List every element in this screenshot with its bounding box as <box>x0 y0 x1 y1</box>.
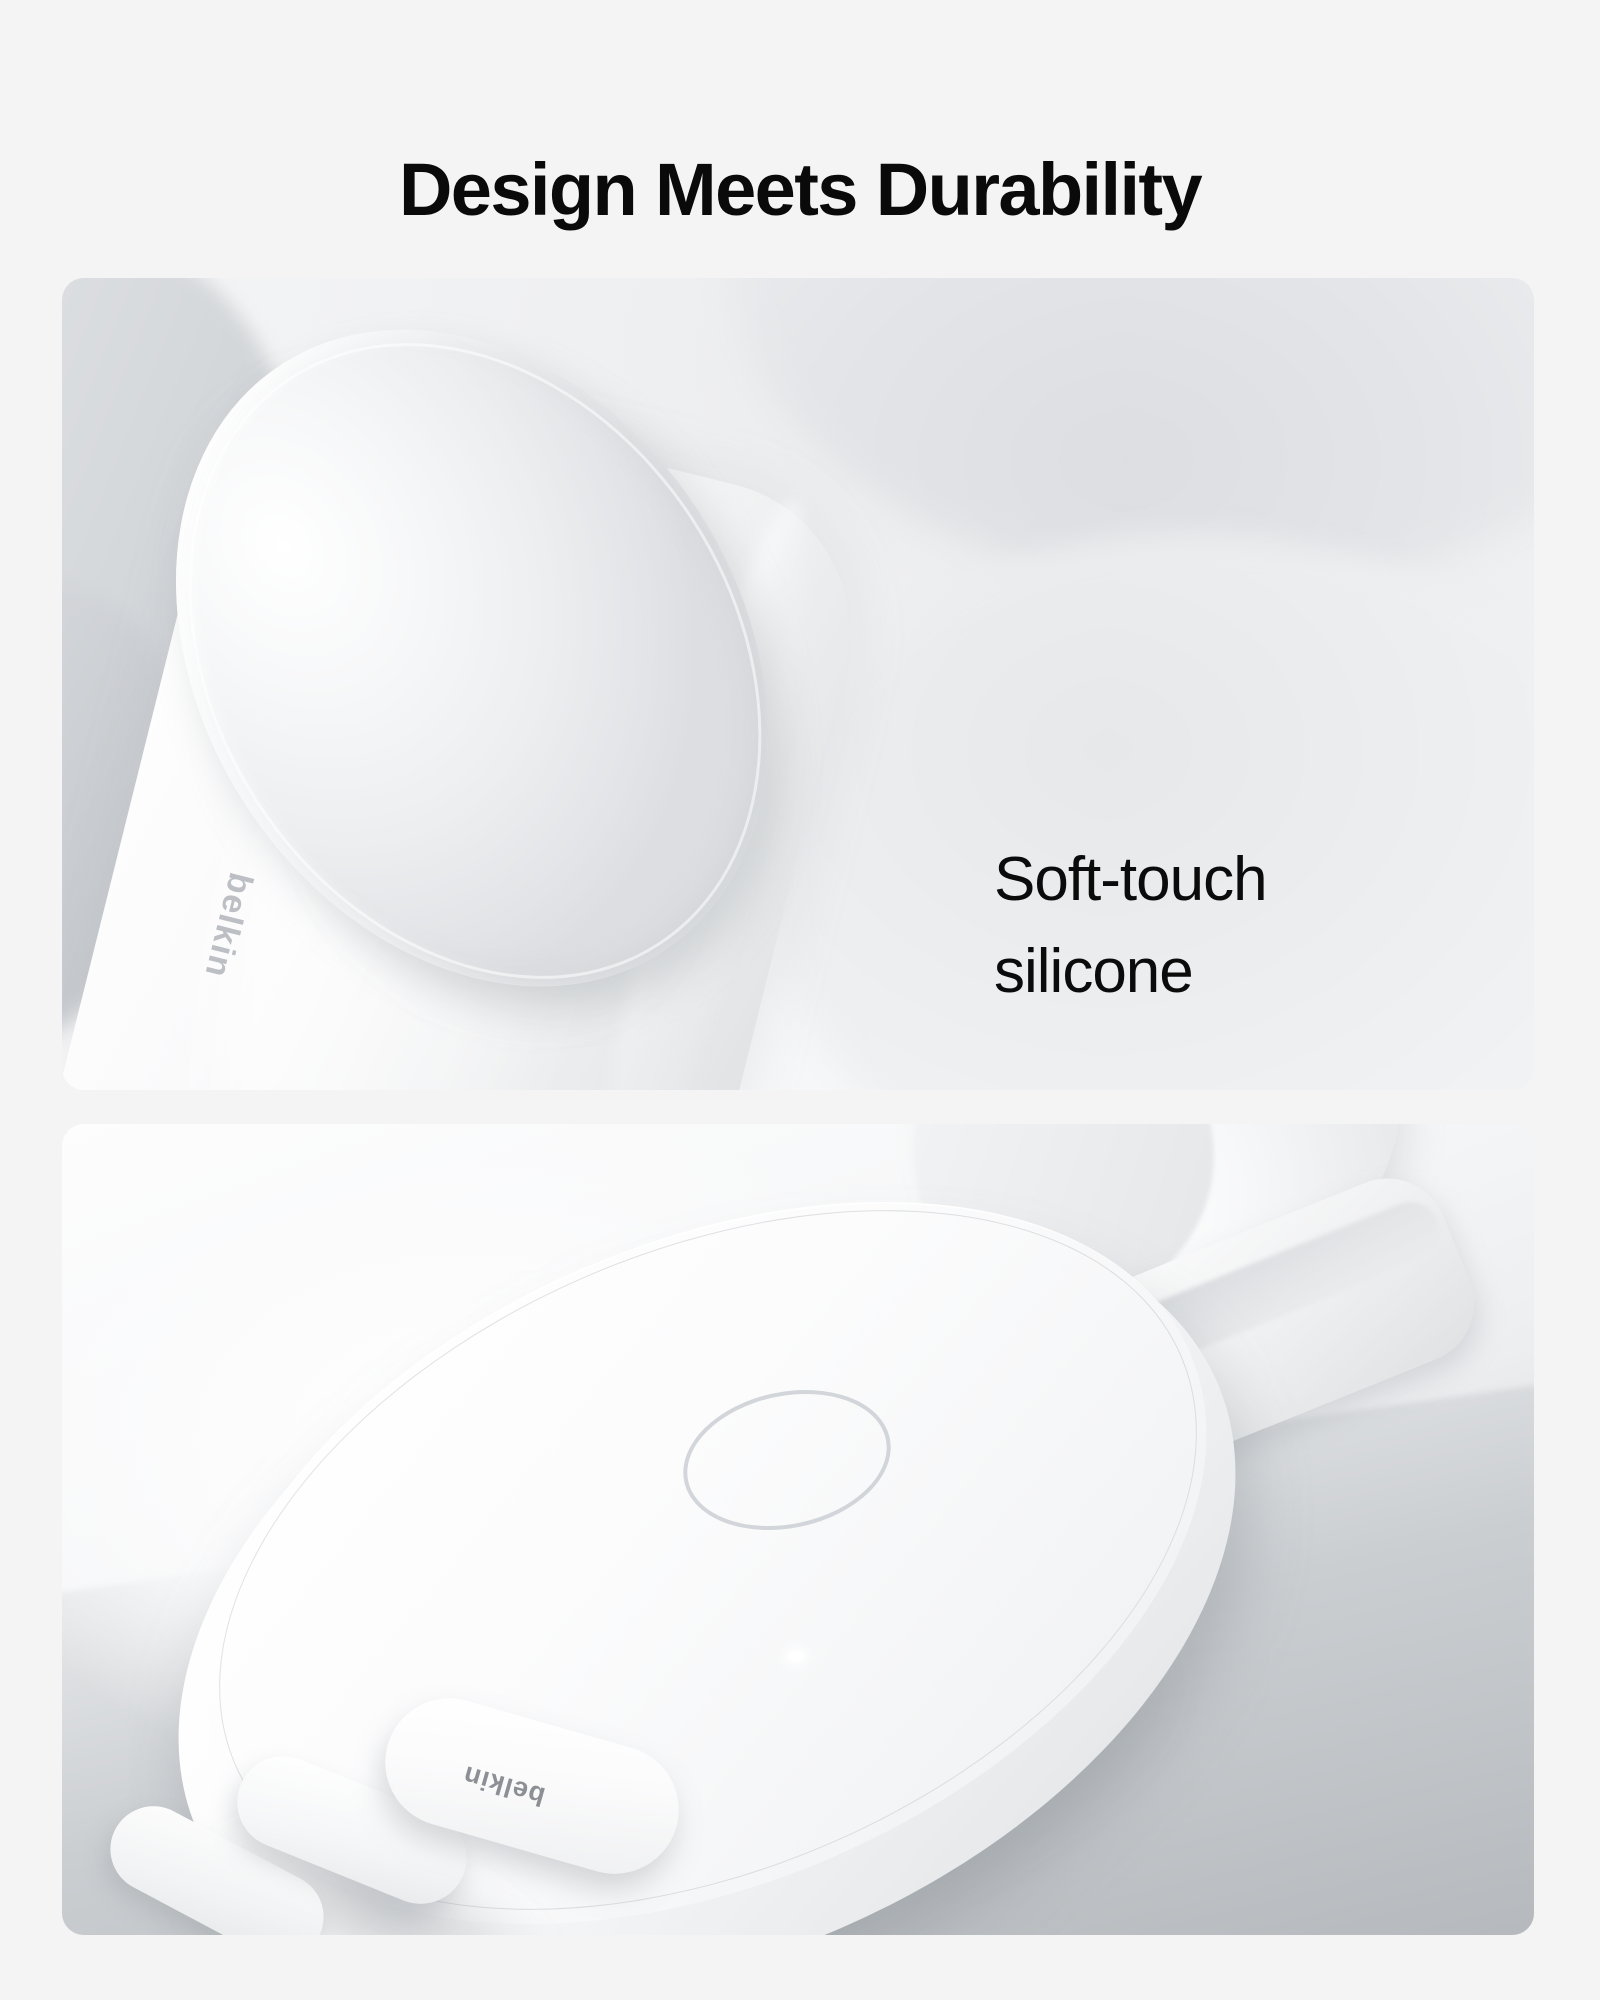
product-photo-soft-touch-silicone: belkin <box>62 278 1534 1090</box>
led-status-indicator <box>788 1651 803 1662</box>
feature-caption-soft-touch-silicone: Soft-touch silicone <box>994 834 1267 1018</box>
feature-card-stable-non-slip-base: belkin Stable non-slip base <box>62 1124 1534 1935</box>
product-feature-page: Design Meets Durability belkin Soft-touc… <box>0 0 1600 2000</box>
page-title: Design Meets Durability <box>0 146 1600 234</box>
product-photo-stable-non-slip-base: belkin <box>62 1124 1534 1935</box>
feature-card-soft-touch-silicone: belkin Soft-touch silicone <box>62 278 1534 1090</box>
